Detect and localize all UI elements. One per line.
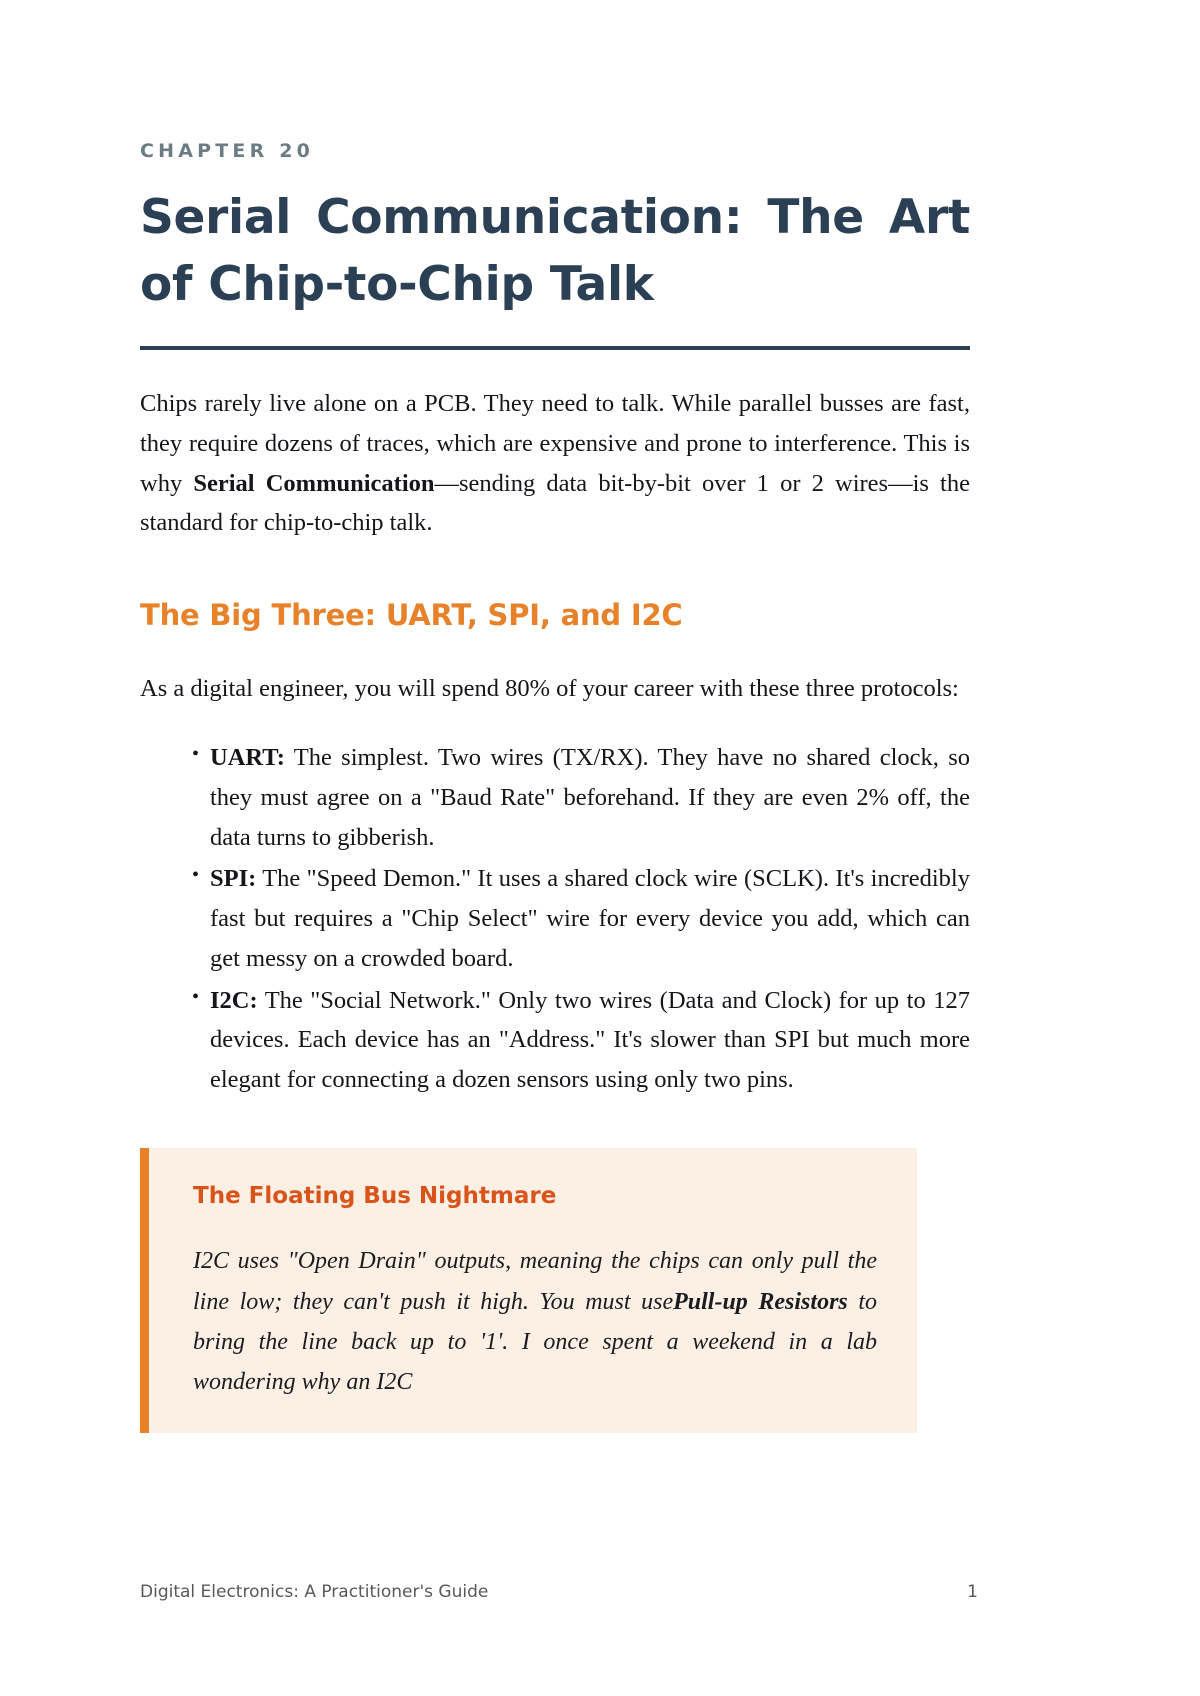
callout-body: I2C uses "Open Drain" outputs, meaning t… <box>193 1241 877 1402</box>
footer-page-number: 1 <box>967 1582 978 1602</box>
chapter-label: CHAPTER 20 <box>140 140 970 163</box>
bullet-text: The "Speed Demon." It uses a shared cloc… <box>210 865 970 971</box>
list-item: SPI: The "Speed Demon." It uses a shared… <box>192 859 970 978</box>
title-divider <box>140 346 970 350</box>
callout-box: The Floating Bus Nightmare I2C uses "Ope… <box>140 1148 917 1433</box>
bullet-term: UART: <box>210 744 285 771</box>
page-content: CHAPTER 20 Serial Communication: The Art… <box>140 140 970 1433</box>
section-heading-big-three: The Big Three: UART, SPI, and I2C <box>140 597 970 635</box>
protocol-bullet-list: UART: The simplest. Two wires (TX/RX). T… <box>140 738 970 1099</box>
bullet-text: The simplest. Two wires (TX/RX). They ha… <box>210 744 970 850</box>
bullet-term: I2C: <box>210 987 258 1014</box>
intro-paragraph: Chips rarely live alone on a PCB. They n… <box>140 384 970 543</box>
bullet-term: SPI: <box>210 865 256 892</box>
list-item: UART: The simplest. Two wires (TX/RX). T… <box>192 738 970 857</box>
section-lead-paragraph: As a digital engineer, you will spend 80… <box>140 669 970 709</box>
page-footer: Digital Electronics: A Practitioner's Gu… <box>140 1582 978 1602</box>
intro-bold-term: Serial Communication <box>193 470 434 497</box>
document-page: CHAPTER 20 Serial Communication: The Art… <box>0 0 1200 1696</box>
bullet-text: The "Social Network." Only two wires (Da… <box>210 987 970 1093</box>
callout-title: The Floating Bus Nightmare <box>193 1182 877 1212</box>
footer-book-title: Digital Electronics: A Practitioner's Gu… <box>140 1582 488 1602</box>
page-title: Serial Communication: The Art of Chip-to… <box>140 185 970 318</box>
list-item: I2C: The "Social Network." Only two wire… <box>192 981 970 1100</box>
callout-bold-term: Pull-up Resistors <box>673 1289 848 1315</box>
